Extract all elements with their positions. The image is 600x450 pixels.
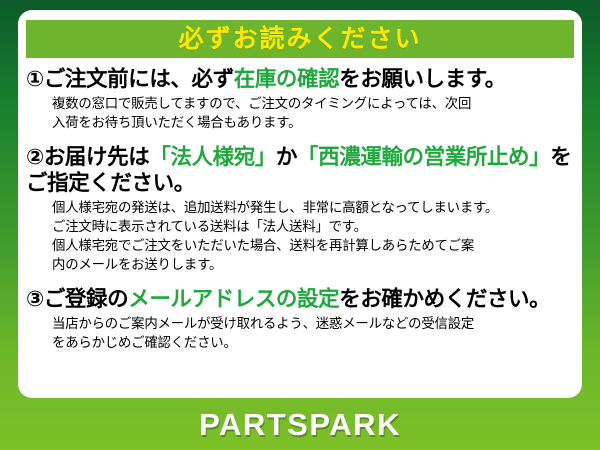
- notice-content-card: 必ずお読みください ①ご注文前には、必ず在庫の確認をお願いします。 複数の窓口で…: [18, 10, 582, 398]
- notice-item-1: ①ご注文前には、必ず在庫の確認をお願いします。 複数の窓口で販売してますので、ご…: [26, 66, 582, 132]
- notice-item-3-heading-part-1: ご登録の: [44, 287, 128, 311]
- notice-item-2-heading: ②お届け先は「法人様宛」か「西濃運輸の営業所止め」をご指定ください。: [26, 144, 582, 197]
- notice-item-2-heading-part-4: 「西濃運輸の営業所止め」: [297, 145, 550, 169]
- notice-item-2-heading-part-1: お届け先は: [44, 145, 150, 169]
- notice-item-3-body: 当店からのご案内メールが受け取れるよう、迷惑メールなどの受信設定をあらかじめご確…: [26, 314, 582, 352]
- notice-item-1-body: 複数の窓口で販売してますので、ご注文のタイミングによっては、次回入荷をお待ち頂い…: [26, 94, 582, 132]
- notice-item-3-number: ③: [26, 287, 44, 311]
- notice-item-1-heading-part-3: をお願いします。: [339, 67, 506, 91]
- notice-item-2: ②お届け先は「法人様宛」か「西濃運輸の営業所止め」をご指定ください。 個人様宅宛…: [26, 144, 582, 274]
- notice-item-1-number: ①: [26, 67, 44, 91]
- notice-item-1-body-line-2: 入荷をお待ち頂いただく場合もあります。: [52, 113, 582, 132]
- notice-item-2-heading-part-3: か: [276, 145, 297, 169]
- footer-brand-bar: PARTSPARK: [0, 398, 600, 450]
- notice-item-2-body-line-1: 個人様宅宛の発送は、追加送料が発生し、非常に高額となってしまいます。: [52, 198, 582, 217]
- notice-item-2-body-line-2: ご注文時に表示されている送料は「法人送料」です。: [52, 217, 582, 236]
- notice-item-2-body: 個人様宅宛の発送は、追加送料が発生し、非常に高額となってしまいます。ご注文時に表…: [26, 198, 582, 274]
- notice-item-2-body-line-3: 個人様宅宛でご注文をいただいた場合、送料を再計算しあらためてご案: [52, 236, 582, 255]
- notice-item-3-body-line-2: をあらかじめご確認ください。: [52, 333, 582, 352]
- notice-item-3-heading: ③ご登録のメールアドレスの設定をお確かめください。: [26, 286, 582, 313]
- brand-name: PARTSPARK: [199, 409, 401, 440]
- notice-item-2-body-line-4: 内のメールをお送りします。: [52, 255, 582, 274]
- notice-item-1-body-line-1: 複数の窓口で販売してますので、ご注文のタイミングによっては、次回: [52, 94, 582, 113]
- notice-item-2-heading-part-2: 「法人様宛」: [149, 145, 276, 169]
- notice-item-1-heading: ①ご注文前には、必ず在庫の確認をお願いします。: [26, 66, 582, 93]
- notice-item-3-heading-part-2: メールアドレスの設定: [128, 287, 339, 311]
- banner-title: 必ずお読みください: [178, 27, 421, 52]
- notice-item-1-heading-part-1: ご注文前には、必ず: [44, 67, 234, 91]
- notice-item-1-heading-part-2: 在庫の確認: [234, 67, 340, 91]
- notice-graphic: 必ずお読みください ①ご注文前には、必ず在庫の確認をお願いします。 複数の窓口で…: [0, 0, 600, 450]
- notice-item-2-number: ②: [26, 145, 44, 169]
- notice-items-list: ①ご注文前には、必ず在庫の確認をお願いします。 複数の窓口で販売してますので、ご…: [26, 66, 582, 358]
- title-banner: 必ずお読みください: [26, 20, 574, 58]
- notice-item-3: ③ご登録のメールアドレスの設定をお確かめください。 当店からのご案内メールが受け…: [26, 286, 582, 352]
- notice-item-3-body-line-1: 当店からのご案内メールが受け取れるよう、迷惑メールなどの受信設定: [52, 314, 582, 333]
- notice-item-3-heading-part-3: をお確かめください。: [339, 287, 550, 311]
